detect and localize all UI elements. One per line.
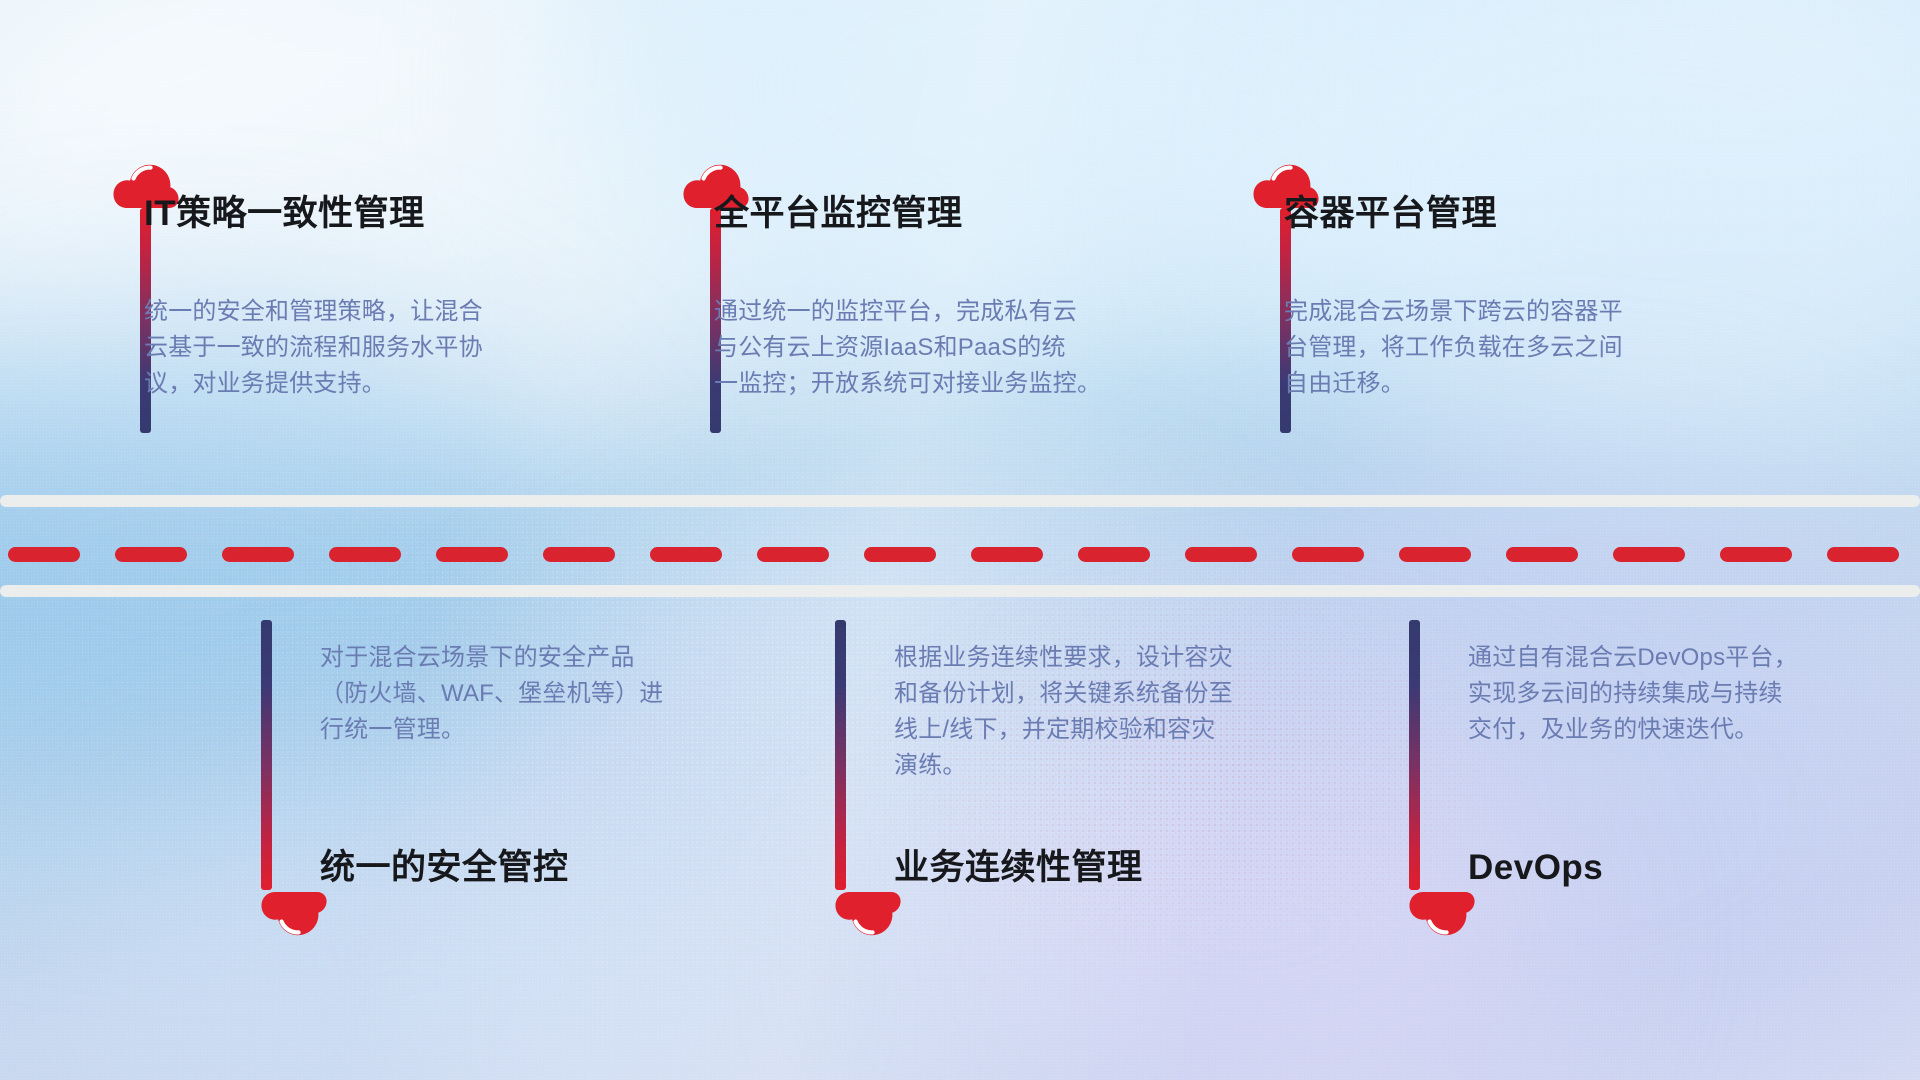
road-bar-upper	[0, 495, 1920, 507]
feature-title: 全平台监控管理	[714, 196, 963, 231]
road-dash	[1720, 547, 1792, 562]
cloud-icon	[261, 890, 327, 940]
feature-title: DevOps	[1468, 850, 1603, 885]
connector-stem	[835, 620, 846, 890]
feature-column-container-platform: 容器平台管理 完成混合云场景下跨云的容器平 台管理，将工作负载在多云之间 自由迁…	[1236, 160, 1666, 433]
feature-title: IT策略一致性管理	[144, 196, 425, 231]
road-dash	[1399, 547, 1471, 562]
road-dash	[1613, 547, 1685, 562]
road-dash	[757, 547, 829, 562]
road-bar-lower	[0, 585, 1920, 597]
road-dash	[971, 547, 1043, 562]
feature-column-it-policy: IT策略一致性管理 统一的安全和管理策略，让混合 云基于一致的流程和服务水平协 …	[96, 160, 526, 433]
connector-stem	[261, 620, 272, 890]
road-dash	[1185, 547, 1257, 562]
feature-description: 通过统一的监控平台，完成私有云 与公有云上资源IaaS和PaaS的统 一监控；开…	[714, 294, 1106, 402]
feature-column-devops: 通过自有混合云DevOps平台， 实现多云间的持续集成与持续 交付，及业务的快速…	[1392, 620, 1832, 940]
road-dash	[864, 547, 936, 562]
feature-title: 容器平台管理	[1284, 196, 1497, 231]
road-dash	[1078, 547, 1150, 562]
feature-description: 对于混合云场景下的安全产品 （防火墙、WAF、堡垒机等）进 行统一管理。	[320, 640, 720, 748]
road-dash	[1506, 547, 1578, 562]
feature-column-unified-security: 对于混合云场景下的安全产品 （防火墙、WAF、堡垒机等）进 行统一管理。 统一的…	[244, 620, 684, 940]
cloud-icon	[835, 890, 901, 940]
cloud-icon	[1409, 890, 1475, 940]
feature-column-monitoring: 全平台监控管理 通过统一的监控平台，完成私有云 与公有云上资源IaaS和PaaS…	[666, 160, 1106, 433]
feature-title: 统一的安全管控	[320, 850, 569, 885]
road-dash	[650, 547, 722, 562]
feature-description: 完成混合云场景下跨云的容器平 台管理，将工作负载在多云之间 自由迁移。	[1284, 294, 1664, 402]
connector-stem	[1409, 620, 1420, 890]
road-dash	[1827, 547, 1899, 562]
feature-column-business-continuity: 根据业务连续性要求，设计容灾 和备份计划，将关键系统备份至 线上/线下，并定期校…	[818, 620, 1258, 940]
road-dash	[115, 547, 187, 562]
road-dash	[1292, 547, 1364, 562]
road-center-dashes	[0, 547, 1920, 562]
road-dash	[8, 547, 80, 562]
road-dash	[329, 547, 401, 562]
infographic-canvas: IT策略一致性管理 统一的安全和管理策略，让混合 云基于一致的流程和服务水平协 …	[0, 0, 1920, 1080]
feature-description: 统一的安全和管理策略，让混合 云基于一致的流程和服务水平协 议，对业务提供支持。	[144, 294, 514, 402]
feature-title: 业务连续性管理	[894, 850, 1143, 885]
feature-description: 根据业务连续性要求，设计容灾 和备份计划，将关键系统备份至 线上/线下，并定期校…	[894, 640, 1294, 784]
road-dash	[222, 547, 294, 562]
feature-description: 通过自有混合云DevOps平台， 实现多云间的持续集成与持续 交付，及业务的快速…	[1468, 640, 1868, 748]
road-dash	[543, 547, 615, 562]
road-dash	[436, 547, 508, 562]
